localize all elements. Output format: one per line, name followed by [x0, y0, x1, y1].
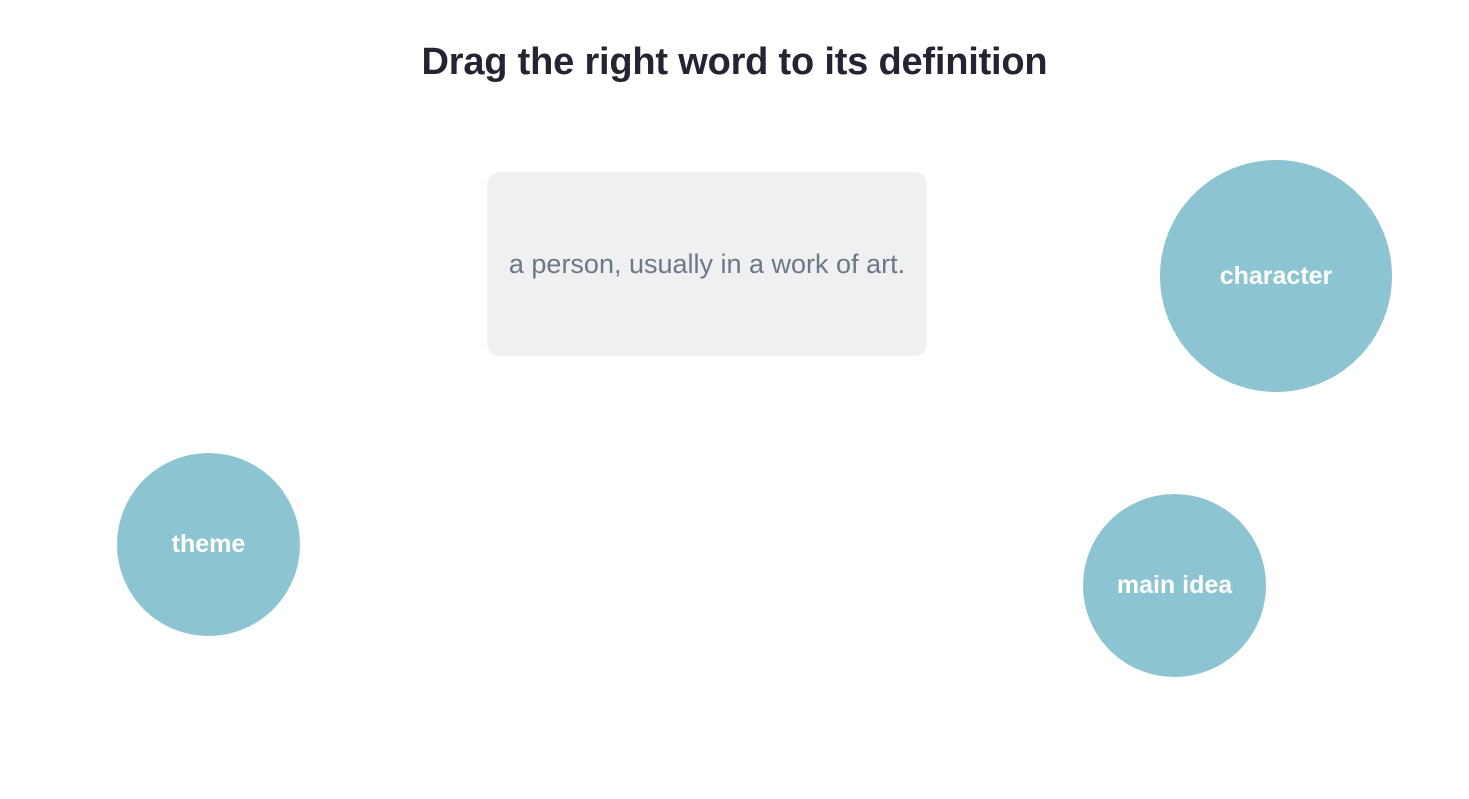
- word-token-label: main idea: [1117, 573, 1232, 598]
- page-title: Drag the right word to its definition: [0, 36, 1469, 88]
- activity-stage: Drag the right word to its definition a …: [0, 0, 1469, 799]
- word-token-label: theme: [172, 532, 246, 557]
- definition-drop-target[interactable]: a person, usually in a work of art.: [487, 172, 927, 356]
- word-token-main-idea[interactable]: main idea: [1083, 494, 1266, 677]
- word-token-label: character: [1220, 264, 1333, 289]
- word-token-character[interactable]: character: [1160, 160, 1392, 392]
- definition-text: a person, usually in a work of art.: [509, 238, 905, 290]
- word-token-theme[interactable]: theme: [117, 453, 300, 636]
